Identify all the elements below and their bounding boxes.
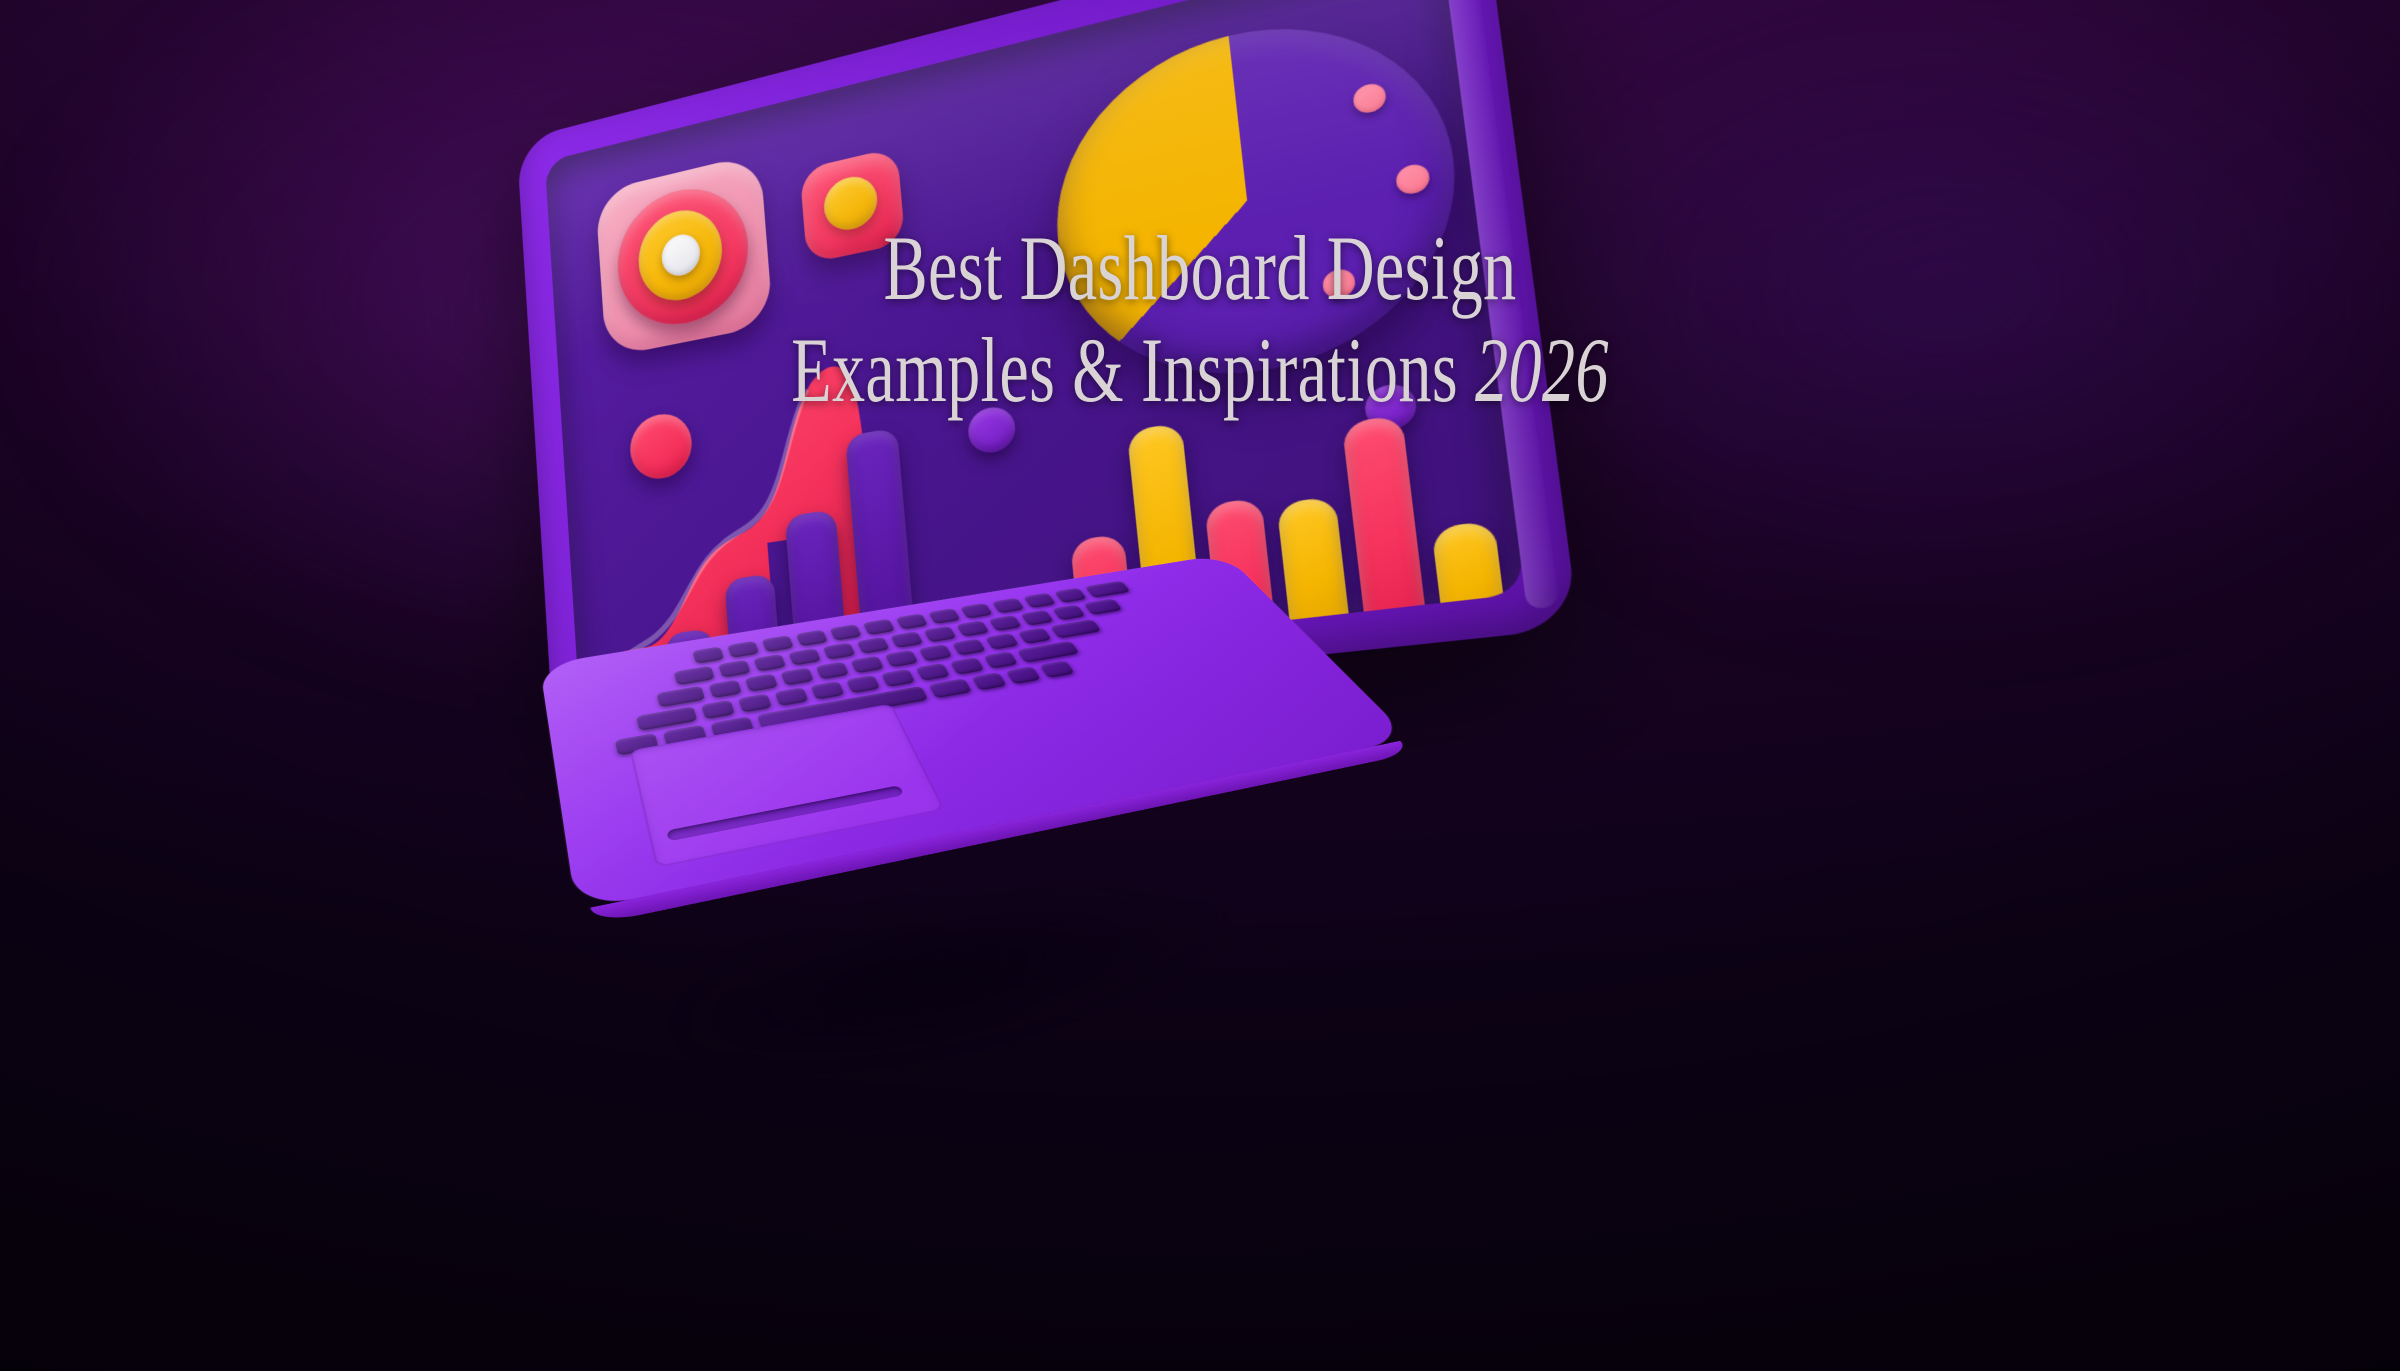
keyboard-key[interactable] bbox=[796, 630, 828, 647]
keyboard-key[interactable] bbox=[823, 643, 856, 660]
keyboard-key[interactable] bbox=[1052, 605, 1086, 621]
keyboard-key[interactable] bbox=[956, 620, 989, 636]
keyboard-key[interactable] bbox=[1039, 660, 1075, 678]
keyboard-key[interactable] bbox=[950, 657, 985, 675]
keyboard-key[interactable] bbox=[727, 641, 759, 658]
metric-chip-widget[interactable] bbox=[799, 147, 905, 264]
keyboard-key[interactable] bbox=[692, 646, 724, 663]
comparison-bar bbox=[1431, 520, 1507, 632]
keyboard-key[interactable] bbox=[919, 644, 953, 661]
keyboard-key[interactable] bbox=[960, 603, 993, 619]
keyboard-key[interactable] bbox=[989, 615, 1022, 631]
keyboard-key[interactable] bbox=[896, 613, 929, 629]
keyboard-key[interactable] bbox=[952, 639, 986, 656]
keyboard-key[interactable] bbox=[1021, 610, 1054, 626]
keyboard-key[interactable] bbox=[890, 631, 923, 648]
keyboard-key[interactable] bbox=[762, 635, 794, 652]
keyboard-key[interactable] bbox=[718, 660, 751, 678]
keyboard-key[interactable] bbox=[701, 700, 735, 719]
keyboard-key[interactable] bbox=[829, 624, 861, 640]
keyboard-key[interactable] bbox=[971, 672, 1006, 690]
keyboard-key[interactable] bbox=[709, 680, 742, 699]
pie-annotation-dot-1 bbox=[1352, 81, 1387, 116]
keyboard-key[interactable] bbox=[881, 669, 915, 687]
keyboard-key[interactable] bbox=[1050, 619, 1102, 638]
poster-canvas: Best Dashboard Design Examples & Inspira… bbox=[0, 0, 2400, 1371]
bullseye-target-widget[interactable] bbox=[595, 153, 773, 358]
keyboard-key[interactable] bbox=[857, 637, 890, 654]
keyboard-key[interactable] bbox=[916, 663, 951, 681]
keyboard-key[interactable] bbox=[923, 626, 956, 642]
keyboard-key[interactable] bbox=[885, 650, 919, 667]
keyboard-key[interactable] bbox=[1023, 593, 1056, 608]
keyboard-key[interactable] bbox=[780, 667, 814, 685]
keyboard-key[interactable] bbox=[1083, 598, 1122, 614]
keyboard-key[interactable] bbox=[1085, 581, 1131, 598]
keyboard-key[interactable] bbox=[1018, 627, 1052, 644]
keyboard-key[interactable] bbox=[816, 662, 850, 680]
keyboard-key[interactable] bbox=[850, 656, 884, 674]
keyboard-key[interactable] bbox=[674, 666, 715, 686]
keyboard-key[interactable] bbox=[1054, 588, 1087, 603]
keyboard-key[interactable] bbox=[738, 694, 772, 713]
keyboard-key[interactable] bbox=[788, 648, 821, 665]
comparison-bar bbox=[1342, 414, 1429, 640]
keyboard-key[interactable] bbox=[1017, 641, 1080, 663]
keyboard-key[interactable] bbox=[753, 654, 786, 672]
keyboard-key[interactable] bbox=[983, 651, 1018, 668]
keyboard-key[interactable] bbox=[774, 687, 808, 706]
pie-annotation-dot-3 bbox=[1321, 267, 1356, 301]
keyboard-key[interactable] bbox=[992, 598, 1025, 613]
keyboard-key[interactable] bbox=[928, 678, 972, 698]
laptop-illustration bbox=[560, 410, 1660, 1170]
keyboard-key[interactable] bbox=[985, 633, 1019, 650]
keyboard-key[interactable] bbox=[846, 675, 880, 693]
chip-dot-icon bbox=[822, 172, 879, 235]
keyboard-key[interactable] bbox=[745, 674, 778, 692]
keyboard-key[interactable] bbox=[810, 681, 844, 700]
pie-chart-widget[interactable] bbox=[1042, 0, 1475, 402]
keyboard-key[interactable] bbox=[928, 608, 961, 624]
keyboard-key[interactable] bbox=[1006, 666, 1042, 684]
keyboard-key[interactable] bbox=[863, 619, 895, 635]
keyboard-key[interactable] bbox=[656, 686, 705, 708]
pie-annotation-dot-2 bbox=[1395, 162, 1431, 197]
